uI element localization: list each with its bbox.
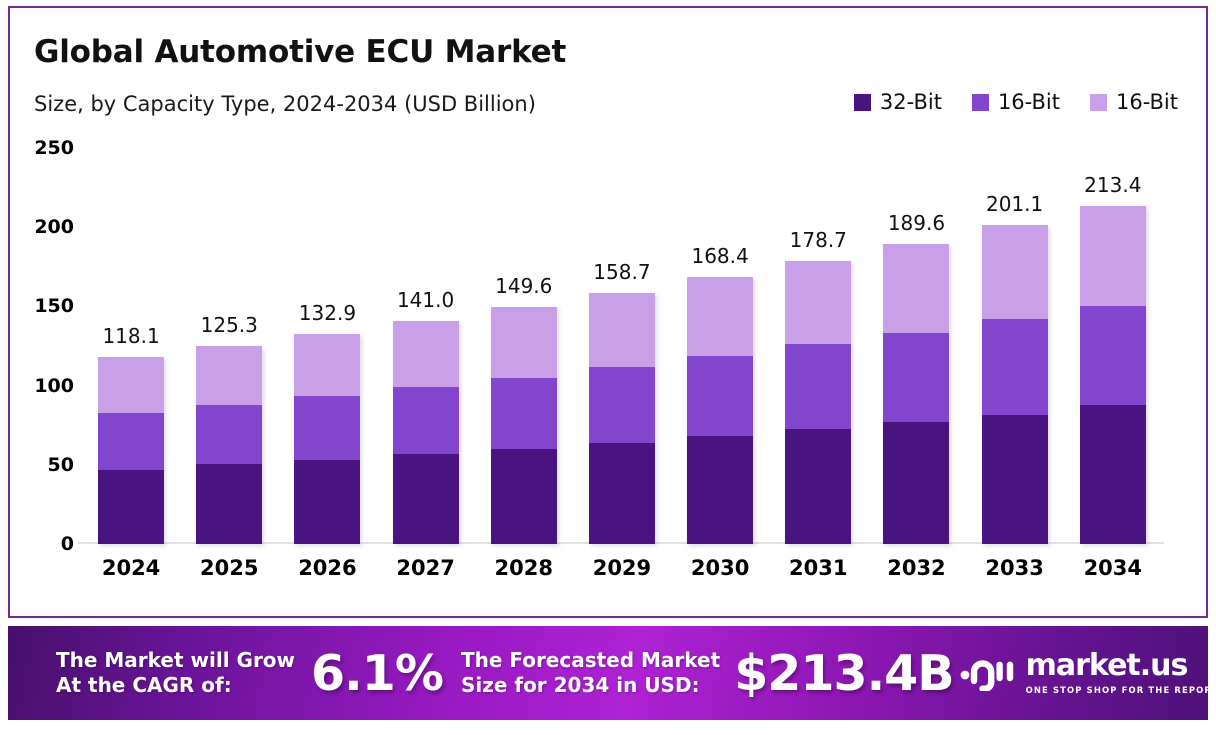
forecast-value: $213.4B — [734, 645, 953, 702]
y-axis-tick-label: 200 — [34, 216, 74, 238]
bar-segment-16-bit-1[interactable] — [687, 356, 753, 436]
x-axis-tick-label: 2025 — [180, 556, 278, 580]
forecast-caption-line-2: Size for 2034 in USD: — [461, 673, 720, 698]
bar-segment-16-bit-1[interactable] — [883, 333, 949, 422]
bar-stack[interactable] — [589, 293, 655, 544]
summary-banner: The Market will Grow At the CAGR of: 6.1… — [8, 626, 1208, 720]
plot-area: 050100150200250 118.1125.3132.9141.0149.… — [10, 8, 1210, 620]
market-us-logo: market.us ONE STOP SHOP FOR THE REPORTS — [960, 651, 1208, 695]
x-axis-tick-label: 2034 — [1064, 556, 1162, 580]
market-us-wordmark: market.us ONE STOP SHOP FOR THE REPORTS — [1026, 651, 1208, 695]
bar-stack[interactable] — [785, 261, 851, 544]
bar-group[interactable]: 189.6 — [867, 148, 965, 544]
bar-total-label: 158.7 — [593, 260, 650, 284]
bar-segment-32-bit-0[interactable] — [883, 422, 949, 544]
x-axis-tick-label: 2027 — [377, 556, 475, 580]
bar-segment-16-bit-1[interactable] — [196, 405, 262, 465]
bar-total-label: 189.6 — [888, 211, 945, 235]
bar-segment-16-bit-2[interactable] — [687, 277, 753, 356]
cagr-caption-line-2: At the CAGR of: — [56, 673, 295, 698]
cagr-caption-block: The Market will Grow At the CAGR of: — [56, 648, 295, 698]
logo-tagline: ONE STOP SHOP FOR THE REPORTS — [1026, 685, 1208, 695]
bar-group[interactable]: 132.9 — [278, 148, 376, 544]
bar-segment-32-bit-0[interactable] — [294, 460, 360, 544]
y-axis-tick-label: 150 — [34, 295, 74, 317]
bar-segment-16-bit-1[interactable] — [98, 413, 164, 469]
bar-total-label: 201.1 — [986, 192, 1043, 216]
bar-stack[interactable] — [883, 244, 949, 544]
infographic-root: Global Automotive ECU Market Size, by Ca… — [0, 0, 1216, 735]
bar-stack[interactable] — [294, 334, 360, 545]
x-axis-labels: 2024202520262027202820292030203120322033… — [82, 556, 1162, 580]
bar-total-label: 178.7 — [790, 228, 847, 252]
bar-group[interactable]: 118.1 — [82, 148, 180, 544]
bar-group[interactable]: 158.7 — [573, 148, 671, 544]
x-axis-tick-label: 2029 — [573, 556, 671, 580]
cagr-caption: The Market will Grow At the CAGR of: — [56, 648, 295, 698]
bar-stack[interactable] — [1080, 206, 1146, 544]
bar-segment-32-bit-0[interactable] — [491, 449, 557, 544]
bar-total-label: 213.4 — [1084, 173, 1141, 197]
cagr-value: 6.1% — [311, 645, 443, 702]
bar-segment-16-bit-2[interactable] — [393, 321, 459, 388]
bar-segment-16-bit-2[interactable] — [294, 334, 360, 397]
y-axis: 050100150200250 — [18, 148, 74, 550]
bar-segment-32-bit-0[interactable] — [687, 436, 753, 544]
bar-stack[interactable] — [687, 277, 753, 544]
bar-group[interactable]: 141.0 — [377, 148, 475, 544]
forecast-caption: The Forecasted Market Size for 2034 in U… — [461, 648, 720, 698]
bar-total-label: 168.4 — [691, 244, 748, 268]
bar-stack[interactable] — [196, 346, 262, 544]
x-axis-tick-label: 2026 — [278, 556, 376, 580]
bar-segment-32-bit-0[interactable] — [982, 415, 1048, 544]
bar-group[interactable]: 168.4 — [671, 148, 769, 544]
forecast-caption-block: The Forecasted Market Size for 2034 in U… — [461, 648, 720, 698]
bar-segment-16-bit-2[interactable] — [785, 261, 851, 344]
forecast-value-block: $213.4B — [734, 645, 953, 702]
bar-group[interactable]: 213.4 — [1064, 148, 1162, 544]
bar-stack[interactable] — [393, 321, 459, 544]
bar-group[interactable]: 201.1 — [966, 148, 1064, 544]
bar-stack[interactable] — [491, 307, 557, 544]
x-axis-tick-label: 2033 — [966, 556, 1064, 580]
bar-segment-16-bit-1[interactable] — [982, 319, 1048, 415]
bar-group[interactable]: 125.3 — [180, 148, 278, 544]
bar-segment-16-bit-1[interactable] — [393, 387, 459, 454]
bar-segment-32-bit-0[interactable] — [589, 443, 655, 544]
x-axis-tick-label: 2028 — [475, 556, 573, 580]
x-axis-tick-label: 2031 — [769, 556, 867, 580]
cagr-value-block: 6.1% — [311, 645, 443, 702]
bar-segment-16-bit-2[interactable] — [196, 346, 262, 405]
bar-segment-16-bit-2[interactable] — [589, 293, 655, 367]
bar-total-label: 141.0 — [397, 288, 454, 312]
bar-segment-32-bit-0[interactable] — [1080, 405, 1146, 544]
x-axis-tick-label: 2024 — [82, 556, 180, 580]
bar-segment-16-bit-1[interactable] — [294, 396, 360, 460]
bar-segment-16-bit-1[interactable] — [491, 378, 557, 449]
bar-segment-16-bit-1[interactable] — [589, 367, 655, 443]
bar-segment-16-bit-2[interactable] — [491, 307, 557, 377]
bar-total-label: 149.6 — [495, 274, 552, 298]
market-us-logomark-icon — [960, 651, 1016, 695]
x-axis-tick-label: 2032 — [867, 556, 965, 580]
bar-series-container: 118.1125.3132.9141.0149.6158.7168.4178.7… — [82, 148, 1162, 544]
y-axis-tick-label: 250 — [34, 137, 74, 159]
bar-segment-16-bit-2[interactable] — [1080, 206, 1146, 306]
bar-group[interactable]: 178.7 — [769, 148, 867, 544]
bar-segment-16-bit-1[interactable] — [785, 344, 851, 429]
bar-total-label: 118.1 — [102, 324, 159, 348]
bar-segment-16-bit-2[interactable] — [883, 244, 949, 333]
y-axis-tick-label: 100 — [34, 375, 74, 397]
bar-total-label: 125.3 — [201, 313, 258, 337]
bar-segment-16-bit-2[interactable] — [982, 225, 1048, 319]
forecast-caption-line-1: The Forecasted Market — [461, 648, 720, 673]
bar-segment-16-bit-2[interactable] — [98, 357, 164, 413]
bar-segment-32-bit-0[interactable] — [785, 429, 851, 544]
logo-name: market.us — [1026, 651, 1208, 681]
y-axis-tick-label: 0 — [61, 533, 74, 555]
bar-stack[interactable] — [982, 225, 1048, 544]
bar-segment-16-bit-1[interactable] — [1080, 306, 1146, 406]
chart-card: Global Automotive ECU Market Size, by Ca… — [8, 6, 1208, 618]
bar-segment-32-bit-0[interactable] — [393, 454, 459, 544]
bar-group[interactable]: 149.6 — [475, 148, 573, 544]
bar-segment-32-bit-0[interactable] — [196, 464, 262, 544]
bar-total-label: 132.9 — [299, 301, 356, 325]
x-axis-tick-label: 2030 — [671, 556, 769, 580]
bar-segment-32-bit-0[interactable] — [98, 470, 164, 544]
cagr-caption-line-1: The Market will Grow — [56, 648, 295, 673]
y-axis-tick-label: 50 — [48, 454, 74, 476]
bar-stack[interactable] — [98, 357, 164, 544]
